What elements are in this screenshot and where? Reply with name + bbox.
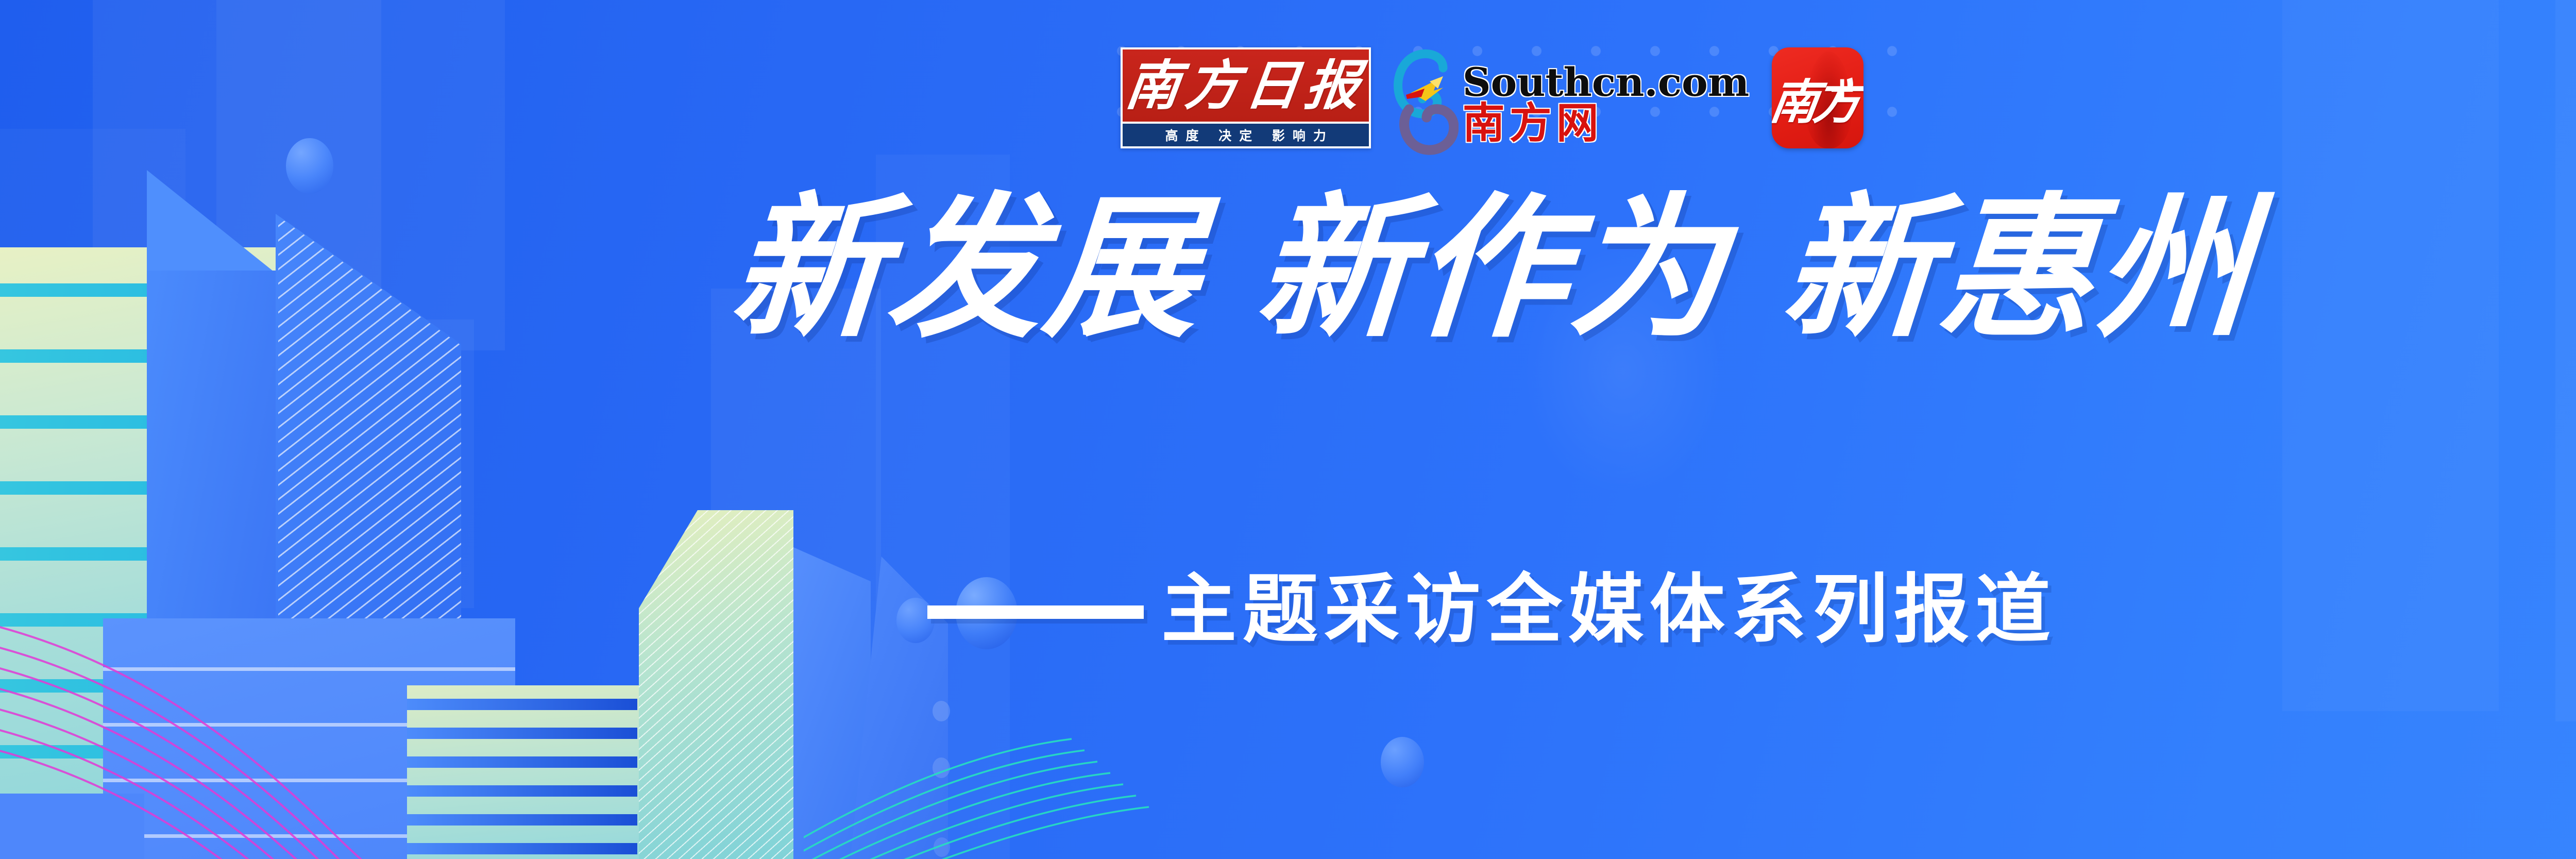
window-band: [407, 814, 637, 826]
nanfang-daily-title: 南方日报: [1123, 59, 1368, 112]
banner-root: 南方日报 高度 决定 影响力 Southcn.com 南方网: [0, 0, 2576, 859]
left-slab-building: [103, 618, 515, 859]
window-band: [0, 547, 309, 561]
southcn-english-label: Southcn.com: [1463, 63, 1750, 102]
southcn-swirl-icon: [1394, 47, 1459, 156]
window-band: [407, 785, 637, 797]
plus-icon: +: [1828, 72, 1856, 106]
subtitle-em-dash: [927, 605, 1144, 619]
nanfang-daily-logo[interactable]: 南方日报 高度 决定 影响力: [1121, 47, 1371, 148]
slab-divider-line: [103, 834, 515, 838]
window-band: [0, 481, 309, 495]
sphere-decor-5: [933, 701, 950, 721]
southcn-logo[interactable]: Southcn.com 南方网: [1394, 47, 1750, 156]
left-small-block: [0, 794, 144, 859]
southcn-chinese-label: 南方网: [1463, 103, 1750, 145]
window-band: [0, 811, 309, 824]
slab-divider-line: [103, 723, 515, 727]
nanfang-plus-app-icon[interactable]: 南方 +: [1772, 47, 1863, 148]
window-band: [0, 349, 309, 363]
headline-text: 新发展 新作为 新惠州: [726, 191, 2258, 345]
center-mint-tower-hatching: [639, 510, 793, 859]
window-band: [0, 415, 309, 429]
slab-divider-line: [103, 667, 515, 671]
headline-block: 新发展 新作为 新惠州: [0, 191, 2576, 345]
slab-divider-line: [103, 779, 515, 782]
bg-rect-c: [155, 319, 474, 608]
window-band: [407, 728, 637, 739]
window-band: [0, 745, 309, 759]
southcn-swirl-svg: [1394, 47, 1459, 156]
cyan-wave-lines: [804, 721, 1267, 859]
subtitle-text: 主题采访全媒体系列报道: [1161, 572, 2057, 647]
sphere-decor-6: [933, 757, 950, 778]
window-band: [407, 699, 637, 710]
nanfang-daily-title-box: 南方日报: [1123, 49, 1369, 122]
logo-bar: 南方日报 高度 决定 影响力 Southcn.com 南方网: [0, 47, 2576, 156]
mint-building-lower: [407, 685, 675, 859]
window-band: [407, 756, 637, 768]
sphere-decor-4: [1381, 737, 1424, 787]
sphere-decor-7: [934, 837, 950, 857]
window-band: [0, 679, 309, 693]
center-mint-tower: [639, 510, 793, 859]
subtitle-block: 主题采访全媒体系列报道: [0, 572, 2576, 647]
nanfang-daily-tagline: 高度 决定 影响力: [1157, 126, 1333, 144]
nanfang-daily-tagline-box: 高度 决定 影响力: [1123, 124, 1369, 146]
window-band: [407, 843, 637, 854]
southcn-text-block: Southcn.com 南方网: [1463, 58, 1750, 145]
cyan-wave-svg: [804, 721, 1267, 859]
